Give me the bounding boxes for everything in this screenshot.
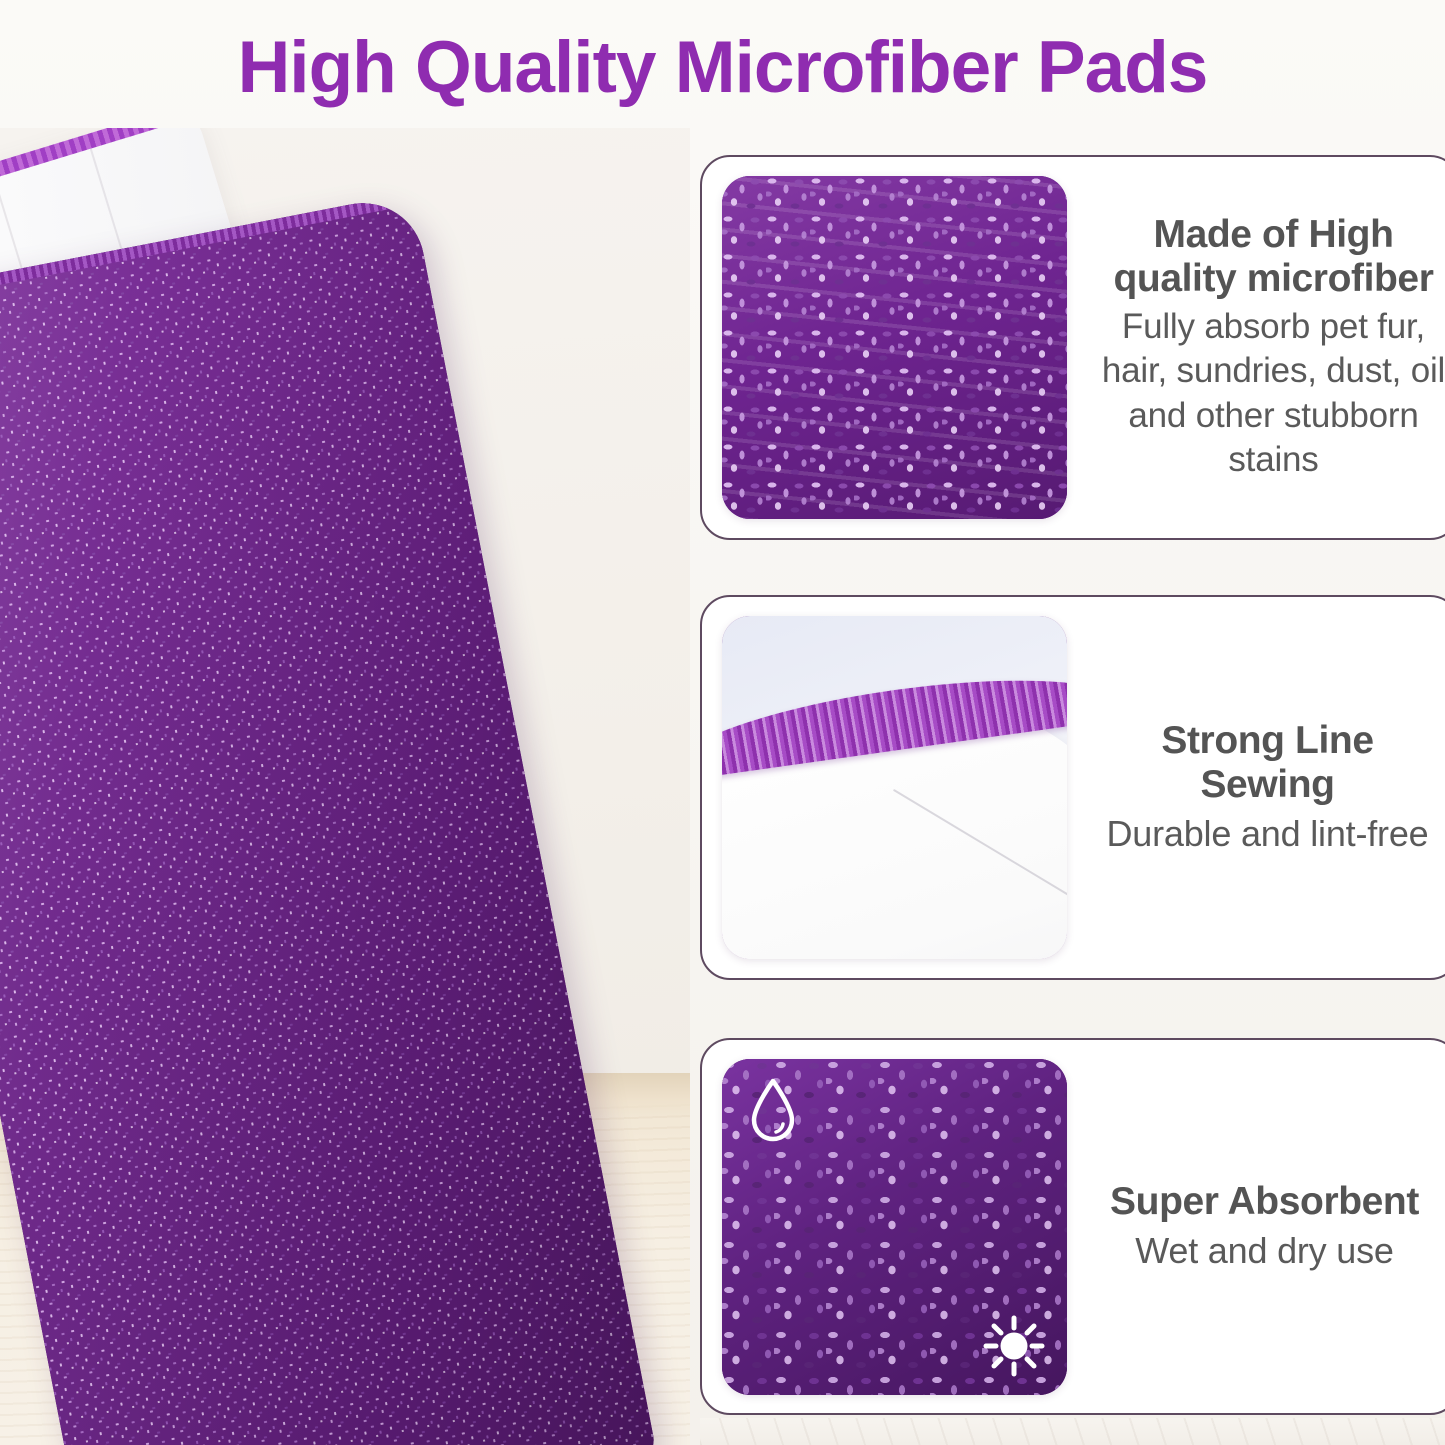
feature-title: Made of High quality microfiber [1095, 213, 1445, 301]
feature-title: Strong Line Sewing [1095, 719, 1440, 807]
hero-product-photo [0, 128, 690, 1445]
feature-text-block: Strong Line Sewing Durable and lint-free [1067, 719, 1445, 856]
plush-microfiber-texture [722, 1059, 1067, 1395]
product-infographic: High Quality Microfiber Pads Made of Hig… [0, 0, 1445, 1445]
feature-text-block: Made of High quality microfiber Fully ab… [1067, 213, 1445, 482]
stitching-photo [722, 616, 1067, 959]
feature-card-sewing: Strong Line Sewing Durable and lint-free [700, 595, 1445, 980]
feature-card-microfiber: Made of High quality microfiber Fully ab… [700, 155, 1445, 540]
page-title: High Quality Microfiber Pads [0, 26, 1445, 109]
feature-description: Wet and dry use [1089, 1228, 1440, 1273]
background-floor-pattern [700, 1418, 1445, 1445]
feature-text-block: Super Absorbent Wet and dry use [1067, 1180, 1445, 1273]
feature-title: Super Absorbent [1089, 1180, 1440, 1224]
feature-image-stitching [722, 616, 1067, 959]
feature-description: Durable and lint-free [1095, 811, 1440, 856]
feature-image-microfiber-loop [722, 176, 1067, 519]
feature-description: Fully absorb pet fur, hair, sundries, du… [1095, 305, 1445, 481]
feature-image-plush-microfiber [722, 1059, 1067, 1395]
microfiber-loop-texture [722, 176, 1067, 519]
feature-card-absorbent: Super Absorbent Wet and dry use [700, 1038, 1445, 1415]
